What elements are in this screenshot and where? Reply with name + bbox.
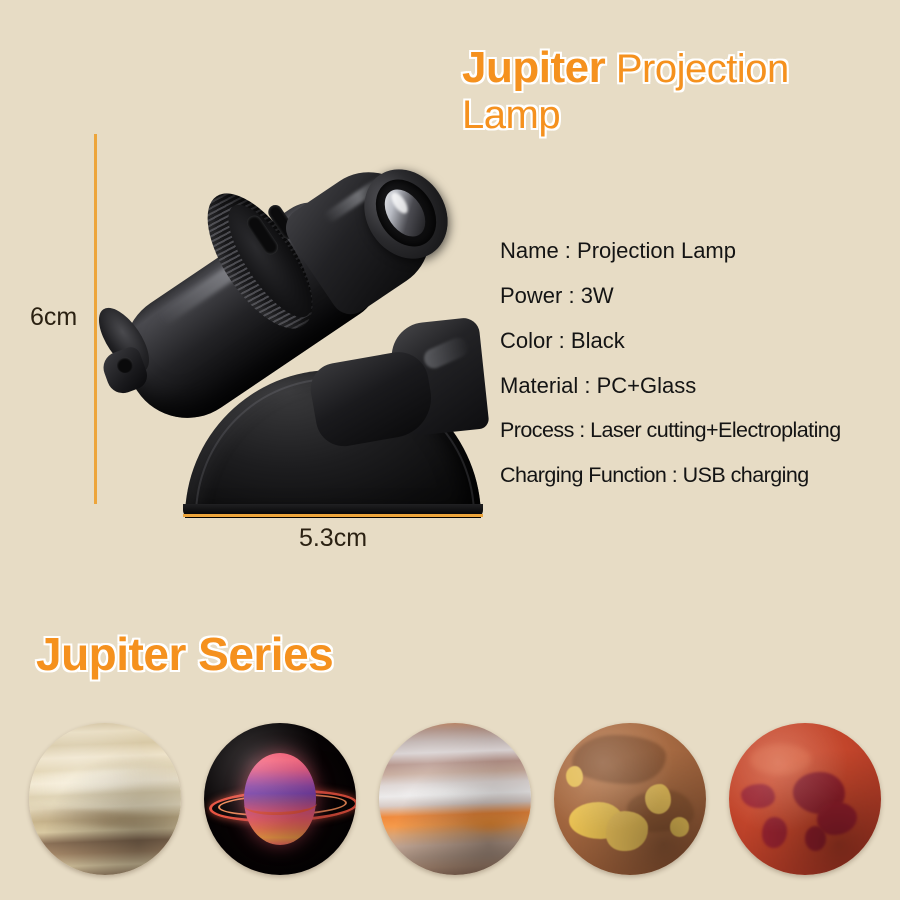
planet-highlight (750, 744, 811, 774)
spec-row-material: Material : PC+Glass (500, 363, 890, 408)
title-line-1: Jupiter Projection (462, 44, 892, 92)
spec-row-name: Name : Projection Lamp (500, 228, 890, 273)
spec-row-color: Color : Black (500, 318, 890, 363)
planet-band-bright (394, 784, 500, 802)
planet-swatch-jupiter-orange[interactable] (379, 723, 531, 875)
spec-row-charging: Charging Function : USB charging (500, 453, 890, 498)
product-infographic: Jupiter Projection Lamp 6cm 5.3cm Name :… (0, 0, 900, 900)
title-emphasis: Jupiter (462, 43, 605, 92)
height-dimension-label: 6cm (30, 303, 77, 332)
series-heading: Jupiter Series (36, 627, 333, 681)
title-line-2: Lamp (462, 94, 892, 137)
planet-maria-5 (805, 826, 826, 850)
planet-swatch-row (0, 723, 900, 878)
specification-list: Name : Projection Lamp Power : 3W Color … (500, 228, 890, 498)
spec-row-process: Process : Laser cutting+Electroplating (500, 408, 890, 453)
planet-gold-patch-5 (566, 766, 583, 787)
width-dimension-label: 5.3cm (183, 524, 483, 553)
planet-maria-3 (741, 784, 774, 808)
planet-gold-patch-3 (645, 784, 671, 814)
title-rest: Projection (605, 47, 788, 91)
height-dimension-line (94, 134, 97, 504)
planet-swatch-venus-copper[interactable] (554, 723, 706, 875)
planet-gold-patch-4 (670, 817, 690, 837)
width-dimension-line (183, 514, 483, 517)
page-title: Jupiter Projection Lamp (462, 44, 892, 137)
planet-surface (29, 723, 181, 875)
planet-swatch-jupiter-cream[interactable] (29, 723, 181, 875)
lamp-side-lug-hole (117, 357, 133, 373)
product-image (105, 125, 485, 515)
planet-swatch-mars-red[interactable] (729, 723, 881, 875)
planet-maria-4 (762, 817, 786, 847)
planet-dark-region-1 (572, 735, 666, 784)
spec-row-power: Power : 3W (500, 273, 890, 318)
planet-swatch-ringed-magenta[interactable] (204, 723, 356, 875)
